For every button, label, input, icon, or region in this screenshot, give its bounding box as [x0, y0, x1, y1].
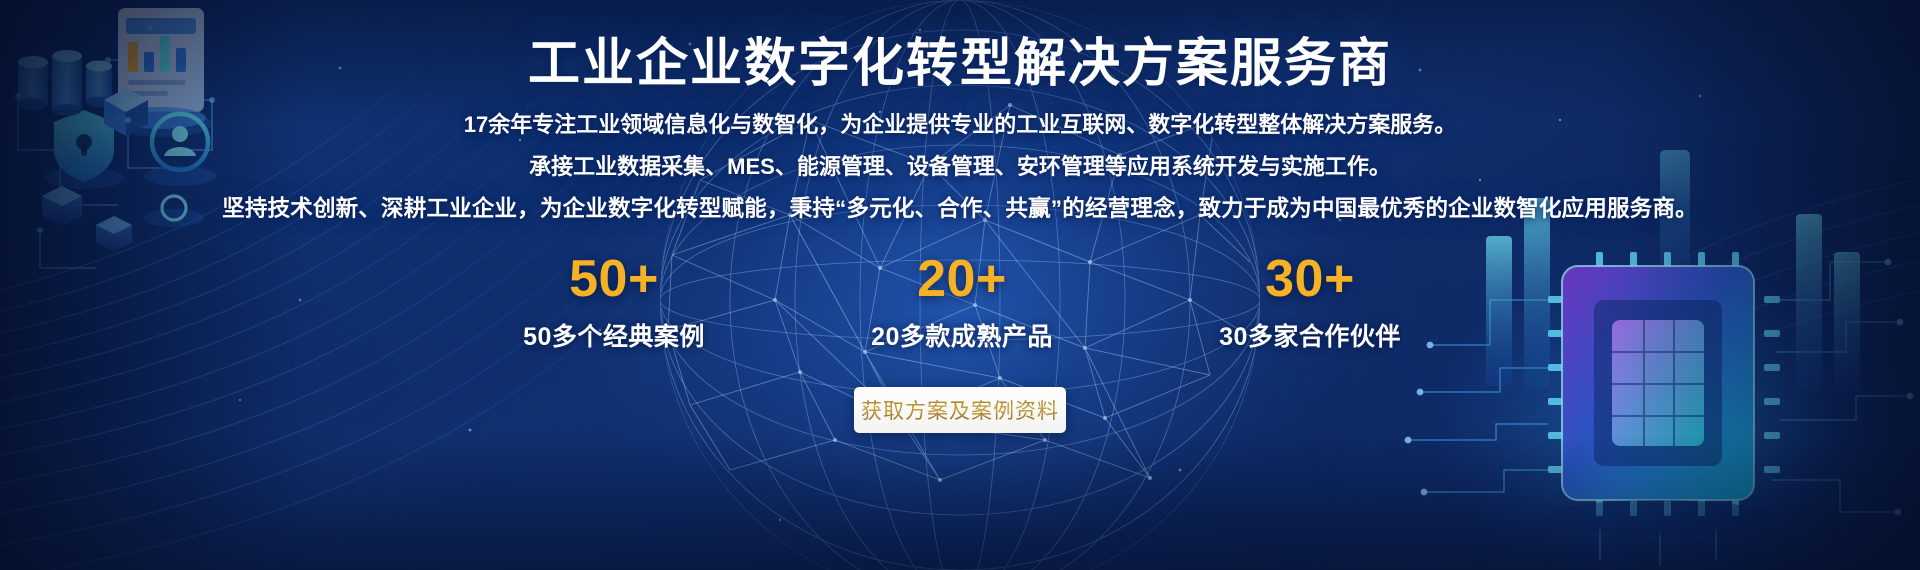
stat-number: 20+ [917, 253, 1007, 305]
stat-item-cases: 50+ 50多个经典案例 [504, 253, 724, 353]
stat-number: 30+ [1265, 253, 1355, 305]
get-materials-button-label: 获取方案及案例资料 [861, 395, 1059, 425]
subtitle-line-1: 17余年专注工业领域信息化与数智化，为企业提供专业的工业互联网、数字化转型整体解… [222, 114, 1698, 136]
stat-label: 50多个经典案例 [523, 317, 705, 353]
subtitle-line-2: 承接工业数据采集、MES、能源管理、设备管理、安环管理等应用系统开发与实施工作。 [222, 156, 1698, 178]
hero-banner: 工业企业数字化转型解决方案服务商 17余年专注工业领域信息化与数智化，为企业提供… [0, 0, 1920, 570]
banner-content: 工业企业数字化转型解决方案服务商 17余年专注工业领域信息化与数智化，为企业提供… [0, 0, 1920, 570]
stat-label: 30多家合作伙伴 [1219, 317, 1401, 353]
subtitle-line-3: 坚持技术创新、深耕工业企业，为企业数字化转型赋能，秉持“多元化、合作、共赢”的经… [222, 198, 1698, 221]
stat-label: 20多款成熟产品 [871, 317, 1053, 353]
stat-number: 50+ [569, 253, 659, 305]
page-title: 工业企业数字化转型解决方案服务商 [528, 36, 1392, 92]
stat-item-partners: 30+ 30多家合作伙伴 [1200, 253, 1420, 353]
subtitle-group: 17余年专注工业领域信息化与数智化，为企业提供专业的工业互联网、数字化转型整体解… [222, 114, 1698, 221]
stats-row: 50+ 50多个经典案例 20+ 20多款成熟产品 30+ 30多家合作伙伴 [500, 253, 1420, 353]
stat-item-products: 20+ 20多款成熟产品 [852, 253, 1072, 353]
get-materials-button[interactable]: 获取方案及案例资料 [854, 387, 1066, 433]
